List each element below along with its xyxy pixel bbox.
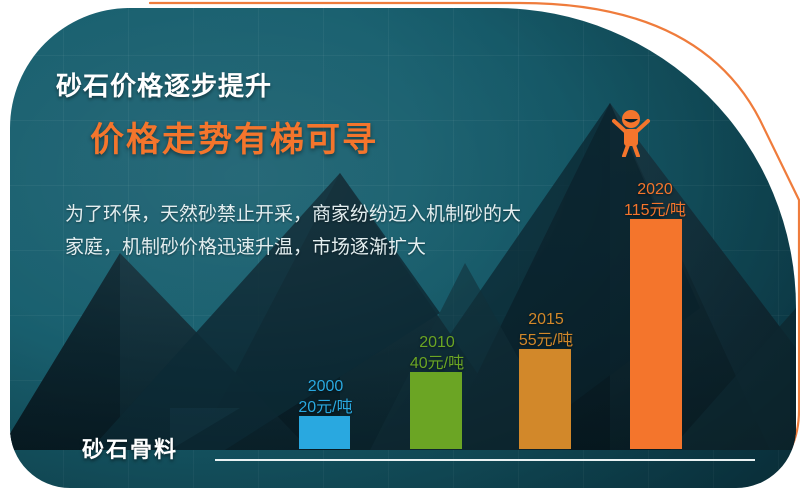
brand-label: 砂石骨料 [82,432,178,464]
bar-year: 2015 [492,309,600,330]
main-panel: 砂石价格逐步提升 价格走势有梯可寻 为了环保，天然砂禁止开采，商家纷纷迈入机制砂… [10,8,796,488]
chart-baseline [215,459,755,461]
body-paragraph: 为了环保，天然砂禁止开采，商家纷纷迈入机制砂的大家庭，机制砂价格迅速升温，市场逐… [65,198,525,264]
chart-bar-label-2000: 200020元/吨 [272,376,379,418]
bar-value: 55元/吨 [492,330,600,351]
bar-year: 2000 [272,376,379,397]
bar-year: 2010 [383,332,491,353]
celebrating-person-icon [611,109,651,157]
bar-value: 115元/吨 [601,200,709,221]
chart-bar-2010 [410,372,462,449]
chart-bar-2020 [630,219,682,449]
poster-canvas: 砂石价格逐步提升 价格走势有梯可寻 为了环保，天然砂禁止开采，商家纷纷迈入机制砂… [0,0,800,490]
chart-bar-2000 [299,416,350,449]
bar-value: 20元/吨 [272,397,379,418]
chart-bar-2015 [519,349,571,449]
chart-bar-label-2020: 2020115元/吨 [601,179,709,221]
page-title: 砂石价格逐步提升 [56,66,272,103]
chart-bar-label-2010: 201040元/吨 [383,332,491,374]
page-subtitle: 价格走势有梯可寻 [90,112,378,161]
bar-value: 40元/吨 [383,353,491,374]
bar-year: 2020 [601,179,709,200]
chart-bar-label-2015: 201555元/吨 [492,309,600,351]
